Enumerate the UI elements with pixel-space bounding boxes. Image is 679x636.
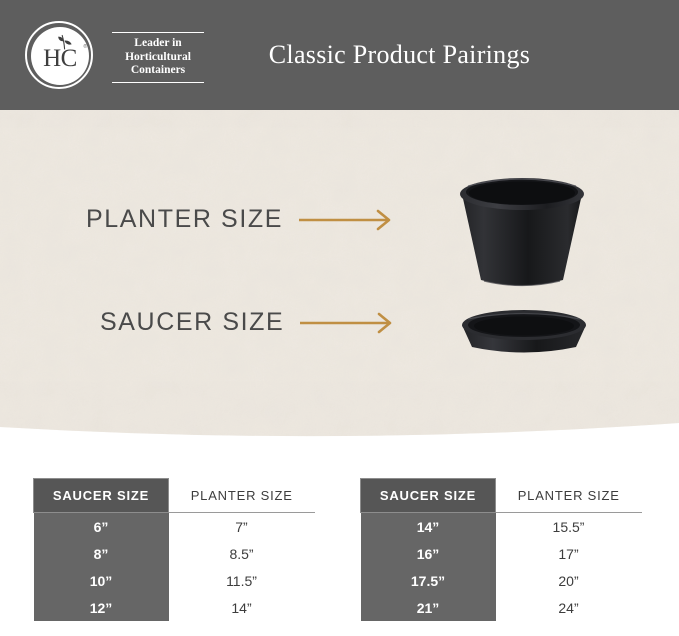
brand-tagline: Leader in Horticultural Containers — [104, 29, 204, 83]
cell-planter-size: 7” — [169, 513, 315, 541]
table-row: 21” 24” — [361, 594, 642, 621]
cell-planter-size: 14” — [169, 594, 315, 621]
table-header-row: SAUCER SIZE PLANTER SIZE — [34, 479, 315, 513]
tagline-line-1: Leader in — [112, 37, 204, 51]
cell-planter-size: 20” — [496, 567, 642, 594]
planter-size-callout: PLANTER SIZE — [86, 205, 399, 234]
registered-trademark-icon: ® — [83, 44, 87, 50]
hero-section: PLANTER SIZE SAUCER SIZE — [0, 110, 679, 440]
hc-circle-logo-icon: HC ® — [24, 20, 96, 92]
saucer-size-callout: SAUCER SIZE — [100, 308, 400, 337]
tagline-line-3: Containers — [112, 64, 204, 78]
cell-saucer-size: 17.5” — [361, 567, 496, 594]
cell-saucer-size: 21” — [361, 594, 496, 621]
column-header-planter-size: PLANTER SIZE — [496, 479, 642, 513]
cell-planter-size: 8.5” — [169, 540, 315, 567]
table-row: 16” 17” — [361, 540, 642, 567]
arrow-right-icon — [300, 311, 400, 335]
table-row: 8” 8.5” — [34, 540, 315, 567]
cell-planter-size: 11.5” — [169, 567, 315, 594]
tagline-rule-bottom — [112, 82, 204, 83]
cell-saucer-size: 10” — [34, 567, 169, 594]
planter-size-label: PLANTER SIZE — [86, 205, 283, 234]
cell-saucer-size: 12” — [34, 594, 169, 621]
table-row: 10” 11.5” — [34, 567, 315, 594]
cell-saucer-size: 6” — [34, 513, 169, 541]
cell-saucer-size: 16” — [361, 540, 496, 567]
tagline-line-2: Horticultural — [112, 51, 204, 65]
table-row: 14” 15.5” — [361, 513, 642, 541]
cell-planter-size: 24” — [496, 594, 642, 621]
brand-logo[interactable]: HC ® Leader in Horticultural Containers — [24, 18, 189, 94]
tagline-rule-top — [112, 32, 204, 33]
column-header-saucer-size: SAUCER SIZE — [361, 479, 496, 513]
table-row: 17.5” 20” — [361, 567, 642, 594]
table-row: 6” 7” — [34, 513, 315, 541]
cell-saucer-size: 8” — [34, 540, 169, 567]
saucer-size-label: SAUCER SIZE — [100, 308, 284, 337]
black-planter-pot-icon — [446, 170, 598, 296]
cell-planter-size: 15.5” — [496, 513, 642, 541]
column-header-planter-size: PLANTER SIZE — [169, 479, 315, 513]
cell-planter-size: 17” — [496, 540, 642, 567]
pairing-table-large-sizes: SAUCER SIZE PLANTER SIZE 14” 15.5” 16” 1… — [360, 478, 641, 636]
cell-saucer-size: 14” — [361, 513, 496, 541]
black-saucer-dish-icon — [456, 305, 592, 361]
column-header-saucer-size: SAUCER SIZE — [34, 479, 169, 513]
pairing-table-small-sizes: SAUCER SIZE PLANTER SIZE 6” 7” 8” 8.5” 1… — [33, 478, 314, 636]
page-header: Classic Product Pairings HC ® Leader in … — [0, 0, 679, 110]
table-row: 12” 14” — [34, 594, 315, 621]
size-pairing-tables: SAUCER SIZE PLANTER SIZE 6” 7” 8” 8.5” 1… — [0, 478, 679, 636]
arrow-right-icon — [299, 208, 399, 232]
leaf-sprig-icon — [55, 34, 75, 50]
table-header-row: SAUCER SIZE PLANTER SIZE — [361, 479, 642, 513]
